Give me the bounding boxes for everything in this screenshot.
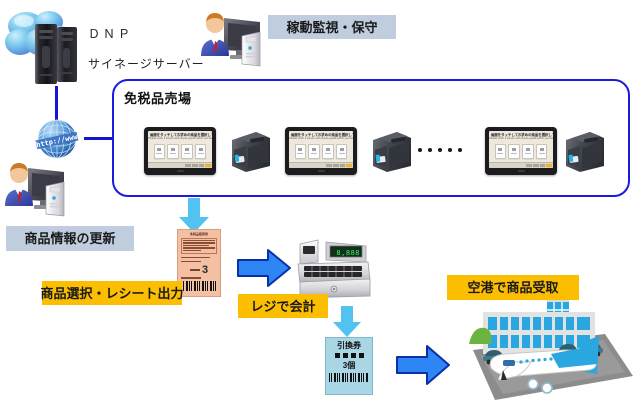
tablet-product-cards[interactable] <box>148 141 212 162</box>
stations-ellipsis <box>418 148 462 152</box>
ellipsis-dot <box>448 148 452 152</box>
tablet-footer-bar <box>148 162 212 168</box>
product-card[interactable] <box>336 144 347 159</box>
tablet-2[interactable]: 画面をタッチしてお求めの商品を選択してください。 Please touch a … <box>285 127 357 175</box>
tablet-1[interactable]: 画面をタッチしてお求めの商品を選択してください。 Please touch a … <box>144 127 216 175</box>
store-area-title: 免税品売場 <box>124 88 192 107</box>
product-card[interactable] <box>181 144 192 159</box>
tablet-3[interactable]: 画面をタッチしてお求めの商品を選択してください。 Please touch a … <box>485 127 557 175</box>
step-select-print-label: 商品選択・レシート出力 <box>42 281 182 305</box>
receipt-quantity-row: 3 <box>181 265 217 276</box>
step-pickup-label: 空港で商品受取 <box>447 275 579 300</box>
server-name-line1: ＤＮＰ <box>88 27 205 42</box>
rack-server-icon <box>33 22 81 86</box>
receipt-quantity: 3 <box>202 265 208 276</box>
content-admin-icon <box>2 158 72 220</box>
tablet-footer-bar <box>489 162 553 168</box>
diagram-canvas: ＤＮＰ サイネージサーバー <box>0 0 640 406</box>
receipt-printer-1 <box>226 126 274 174</box>
product-card[interactable] <box>522 144 533 159</box>
tablet-1-screen[interactable]: 画面をタッチしてお求めの商品を選択してください。 Please touch a … <box>148 131 212 168</box>
tablet-product-cards[interactable] <box>289 141 353 162</box>
product-card[interactable] <box>508 144 519 159</box>
tablet-footer-bar <box>289 162 353 168</box>
product-card[interactable] <box>536 144 547 159</box>
content-update-label: 商品情報の更新 <box>6 226 134 251</box>
tax-free-receipt: 免税品販売票 3 <box>177 229 221 297</box>
ellipsis-dot <box>428 148 432 152</box>
voucher-marks <box>335 353 364 358</box>
product-card[interactable] <box>308 144 319 159</box>
tablet-3-screen[interactable]: 画面をタッチしてお求めの商品を選択してください。 Please touch a … <box>489 131 553 168</box>
receipt-printer-2 <box>367 126 415 174</box>
voucher-mark <box>351 353 356 358</box>
tablet-home-button[interactable] <box>318 170 325 172</box>
server-name-line2: サイネージサーバー <box>88 57 205 72</box>
voucher-quantity: 3個 <box>343 361 355 370</box>
receipt-header: 免税品販売票 <box>181 232 217 236</box>
product-card[interactable] <box>322 144 333 159</box>
server-name-label: ＤＮＰ サイネージサーバー <box>88 12 205 87</box>
tablet-2-screen[interactable]: 画面をタッチしてお求めの商品を選択してください。 Please touch a … <box>289 131 353 168</box>
step-pay-label: レジで会計 <box>238 294 328 318</box>
product-card[interactable] <box>295 144 306 159</box>
tablet-home-button[interactable] <box>177 170 184 172</box>
product-card[interactable] <box>167 144 178 159</box>
ellipsis-dot <box>418 148 422 152</box>
monitoring-label: 稼動監視・保守 <box>268 15 396 39</box>
product-card[interactable] <box>495 144 506 159</box>
exchange-voucher: 引換券 3個 <box>325 337 373 395</box>
receipt-printer-3 <box>560 126 608 174</box>
cash-register-icon: 8,888 <box>296 236 372 302</box>
ellipsis-dot <box>458 148 462 152</box>
tablet-product-cards[interactable] <box>489 141 553 162</box>
arrow-voucher-to-airport <box>395 344 451 386</box>
receipt-barcode <box>181 281 217 291</box>
product-card[interactable] <box>154 144 165 159</box>
wire-globe-to-store <box>84 137 114 140</box>
arrow-register-to-voucher <box>330 306 364 338</box>
ellipsis-dot <box>438 148 442 152</box>
voucher-barcode <box>329 373 369 382</box>
voucher-mark <box>359 353 364 358</box>
voucher-title: 引換券 <box>337 341 361 350</box>
arrow-receipt-to-register <box>236 248 292 288</box>
svg-text:8,888: 8,888 <box>336 249 360 257</box>
globe-icon: http://www <box>32 114 82 164</box>
monitoring-operator-icon <box>198 8 268 70</box>
voucher-mark <box>343 353 348 358</box>
product-card[interactable] <box>195 144 206 159</box>
receipt-detail-box <box>181 238 217 255</box>
tablet-home-button[interactable] <box>518 170 525 172</box>
voucher-mark <box>335 353 340 358</box>
